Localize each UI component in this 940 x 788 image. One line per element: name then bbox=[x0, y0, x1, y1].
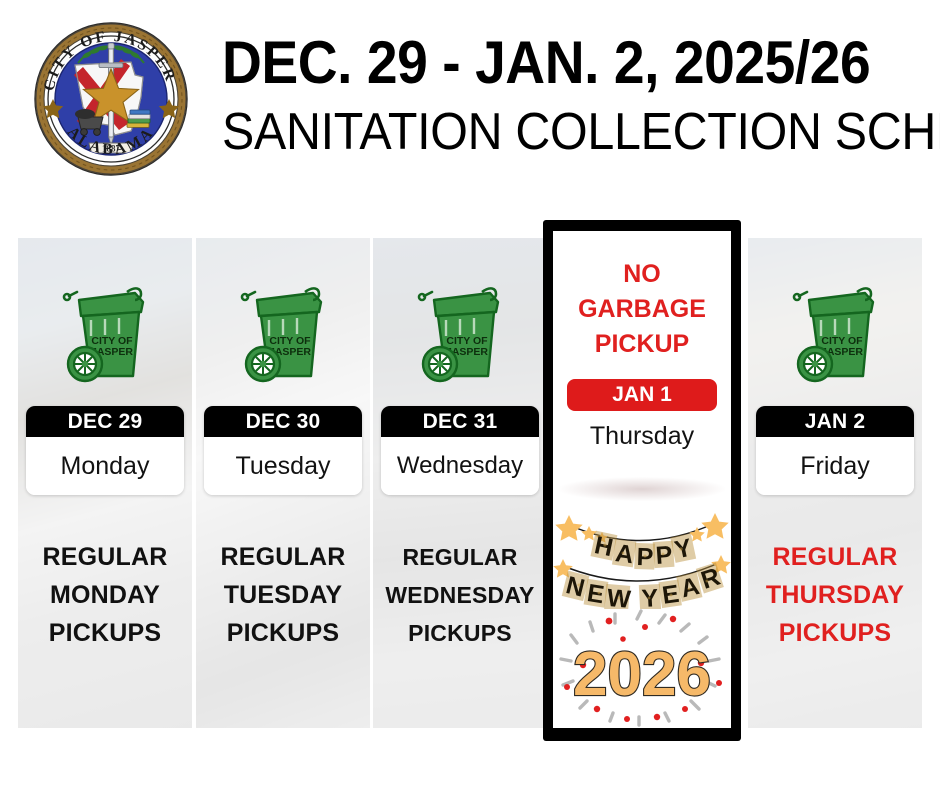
pickup-line-3: PICKUPS bbox=[751, 614, 919, 652]
card-day-name: Monday bbox=[26, 437, 184, 495]
schedule-card-jan-1-highlighted: NO GARBAGE PICKUP JAN 1 Thursday bbox=[543, 220, 741, 741]
poster-title-subtitle: SANITATION COLLECTION SCHEDULE bbox=[222, 102, 890, 162]
card-pickup-text: REGULAR MONDAY PICKUPS bbox=[21, 538, 189, 652]
svg-text:A: A bbox=[614, 539, 636, 569]
new-year-2026-graphic: 2026 bbox=[553, 609, 731, 728]
green-trash-bin-icon: CITY OF JASPER bbox=[57, 280, 153, 389]
pickup-line-3: PICKUPS bbox=[199, 614, 367, 652]
card-day-name: Friday bbox=[756, 437, 914, 495]
day-label-card: JAN 1 Thursday bbox=[567, 379, 717, 461]
pickup-line-3: PICKUPS bbox=[21, 614, 189, 652]
pickup-line-1: REGULAR bbox=[199, 538, 367, 576]
pickup-line-2: THURSDAY bbox=[751, 576, 919, 614]
card-date: DEC 31 bbox=[381, 406, 539, 437]
city-of-jasper-seal-icon: 1887 CITY OF JASPER ALABAMA bbox=[31, 19, 191, 179]
schedule-card-dec-30: CITY OF JASPER DEC 30 Tuesday REGULAR TU bbox=[196, 238, 370, 728]
notice-line-2: GARBAGE bbox=[553, 292, 731, 327]
pickup-line-1: REGULAR bbox=[376, 538, 544, 576]
schedule-card-dec-31: CITY OF JASPER DEC 31 Wednesday REGULAR bbox=[373, 238, 547, 728]
year-text: 2026 bbox=[573, 640, 711, 709]
svg-text:Y: Y bbox=[641, 584, 659, 609]
card-date: JAN 2 bbox=[756, 406, 914, 437]
pickup-line-1: REGULAR bbox=[21, 538, 189, 576]
pickup-line-2: TUESDAY bbox=[199, 576, 367, 614]
pickup-line-2: WEDNESDAY bbox=[376, 576, 544, 614]
card-pickup-text: REGULAR WEDNESDAY PICKUPS bbox=[376, 538, 544, 652]
happy-new-year-banner-graphic: H A P P Y N E W bbox=[553, 499, 731, 609]
day-label-card: DEC 31 Wednesday bbox=[381, 406, 539, 495]
card-date: DEC 30 bbox=[204, 406, 362, 437]
day-label-card: DEC 30 Tuesday bbox=[204, 406, 362, 495]
schedule-card-jan-2: CITY OF JASPER JAN 2 Friday REGULAR THUR bbox=[748, 238, 922, 728]
sanitation-schedule-poster: 1887 CITY OF JASPER ALABAMA bbox=[0, 0, 940, 788]
green-trash-bin-icon: CITY OF JASPER bbox=[235, 280, 331, 389]
card-pickup-text: REGULAR TUESDAY PICKUPS bbox=[199, 538, 367, 652]
photo-smudge bbox=[559, 477, 725, 501]
svg-text:P: P bbox=[655, 541, 674, 570]
poster-title-date-range: DEC. 29 - JAN. 2, 2025/26 bbox=[222, 30, 883, 96]
pickup-line-1: REGULAR bbox=[751, 538, 919, 576]
card-date: DEC 29 bbox=[26, 406, 184, 437]
notice-line-3: PICKUP bbox=[553, 327, 731, 362]
pickup-line-2: MONDAY bbox=[21, 576, 189, 614]
schedule-card-dec-29: CITY OF JASPER DEC 29 Monday REGULAR MON bbox=[18, 238, 192, 728]
poster-header: 1887 CITY OF JASPER ALABAMA bbox=[0, 0, 940, 200]
card-day-name: Wednesday bbox=[381, 437, 539, 495]
card-date: JAN 1 bbox=[567, 379, 717, 411]
card-day-name: Thursday bbox=[567, 411, 717, 461]
green-trash-bin-icon: CITY OF JASPER bbox=[787, 280, 883, 389]
schedule-card-row: CITY OF JASPER DEC 29 Monday REGULAR MON bbox=[0, 200, 940, 760]
pickup-line-3: PICKUPS bbox=[376, 614, 544, 652]
card-day-name: Tuesday bbox=[204, 437, 362, 495]
card-pickup-text: REGULAR THURSDAY PICKUPS bbox=[751, 538, 919, 652]
green-trash-bin-icon: CITY OF JASPER bbox=[412, 280, 508, 389]
no-garbage-pickup-notice: NO GARBAGE PICKUP bbox=[553, 257, 731, 362]
notice-line-1: NO bbox=[553, 257, 731, 292]
day-label-card: DEC 29 Monday bbox=[26, 406, 184, 495]
poster-title-block: DEC. 29 - JAN. 2, 2025/26 SANITATION COL… bbox=[222, 30, 940, 175]
day-label-card: JAN 2 Friday bbox=[756, 406, 914, 495]
